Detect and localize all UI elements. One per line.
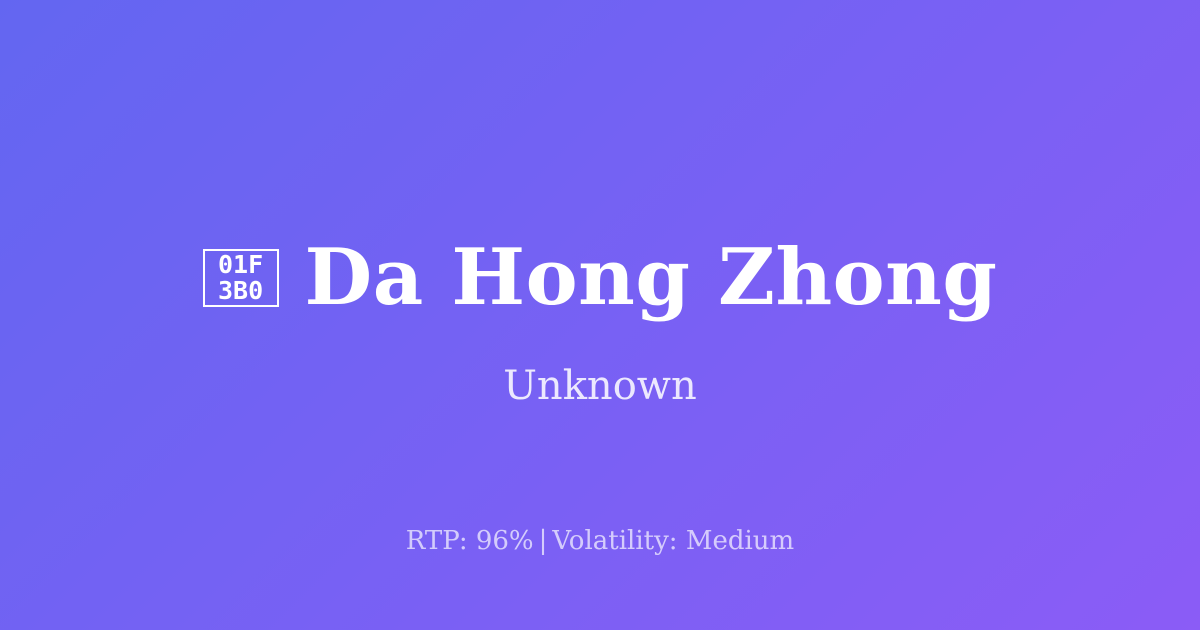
slot-machine-icon-codepoint-bottom: 3B0 <box>218 278 263 305</box>
volatility-value: Volatility: Medium <box>552 526 794 556</box>
game-stats-line: RTP: 96%|Volatility: Medium <box>0 528 1200 554</box>
slot-machine-icon-codepoint-top: 01F <box>218 252 263 279</box>
page-title: Da Hong Zhong <box>305 239 998 317</box>
hero-block: 01F 3B0 Da Hong Zhong Unknown <box>0 232 1200 406</box>
slot-machine-icon: 01F 3B0 <box>203 249 279 307</box>
rtp-value: RTP: 96% <box>406 526 534 556</box>
page-subtitle: Unknown <box>503 366 697 406</box>
title-row: 01F 3B0 Da Hong Zhong <box>203 232 998 324</box>
game-info-card: 01F 3B0 Da Hong Zhong Unknown RTP: 96%|V… <box>0 0 1200 630</box>
stats-separator: | <box>534 526 553 556</box>
